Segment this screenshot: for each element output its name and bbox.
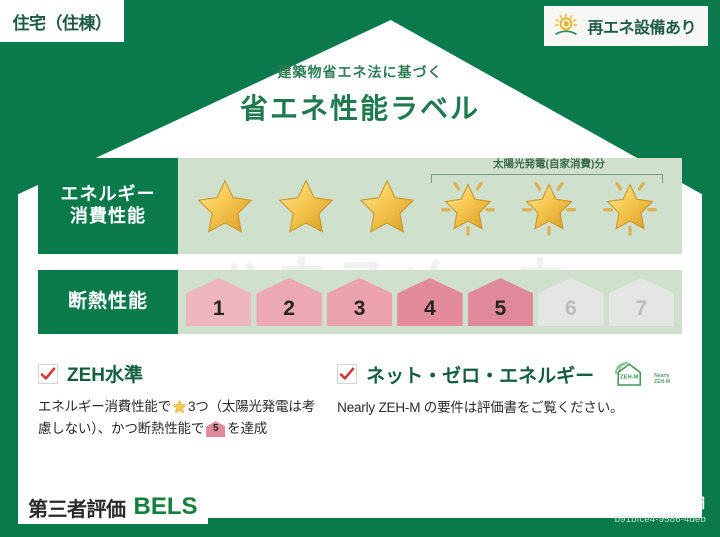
criterion-nzeb: ネット・ゼロ・エネルギー ZEH-M Nearly ZEH-M Nearly Z… (337, 360, 682, 441)
nzeb-description: Nearly ZEH-M の要件は評価書をご覧ください。 (337, 397, 670, 419)
inline-house-value: 5 (206, 421, 225, 438)
footer-bels: 第三者評価 BELS Dear Life (18, 490, 272, 524)
renewable-badge-label: 再エネ設備あり (587, 14, 696, 38)
star-3 (346, 158, 427, 254)
bels-badge: 第三者評価 BELS (18, 490, 208, 524)
footer-evaluation: 評価日 2025年1月31日 b91bfce4-9586-4deb (568, 493, 706, 525)
zehm-side-line1: Nearly (654, 373, 669, 379)
insulation-level-6: 6 (538, 278, 603, 326)
renewable-energy-badge: 再エネ設備あり (544, 6, 708, 46)
insulation-level-1: 1 (186, 278, 251, 326)
insulation-level-value: 2 (283, 297, 295, 326)
criterion-zeh: ZEH水準 エネルギー消費性能で3つ（太陽光発電は考慮しない）、かつ断熱性能で5… (38, 360, 337, 441)
zehm-side-line2: ZEH-M (654, 379, 670, 385)
insulation-level-3: 3 (327, 278, 392, 326)
energy-performance-row: エネルギー 消費性能 太陽光発電(自家消費)分 (38, 158, 682, 254)
star-6-solar (589, 158, 670, 254)
svg-text:ZEH-M: ZEH-M (620, 374, 639, 380)
solar-annotation-label: 太陽光発電(自家消費)分 (421, 156, 677, 171)
zeh-m-logo-side: Nearly ZEH-M (654, 373, 670, 389)
insulation-level-scale: 1 2 3 4 5 (178, 270, 682, 334)
insulation-level-value: 1 (213, 297, 225, 326)
zeh-checkbox[interactable] (38, 364, 58, 384)
nzeb-checkbox[interactable] (337, 364, 357, 384)
zeh-m-logo: ZEH-M Nearly ZEH-M (608, 360, 670, 388)
zeh-desc-part2: （太陽光発電 (209, 399, 289, 414)
brand-name: Dear Life (217, 500, 273, 515)
criteria-section: ZEH水準 エネルギー消費性能で3つ（太陽光発電は考慮しない）、かつ断熱性能で5… (38, 360, 682, 441)
title-block: 建築物省エネ法に基づく 省エネ性能ラベル (0, 62, 720, 127)
insulation-level-2: 2 (256, 278, 321, 326)
star-4-solar (427, 158, 508, 254)
insulation-level-value: 5 (495, 297, 507, 326)
bels-en-label: BELS (134, 493, 198, 521)
energy-performance-body: 太陽光発電(自家消費)分 (178, 158, 682, 254)
star-rating (178, 158, 682, 254)
insulation-level-value: 4 (424, 297, 436, 326)
star-1 (184, 158, 265, 254)
insulation-level-4: 4 (397, 278, 462, 326)
energy-label-line1: エネルギー (61, 184, 156, 206)
criterion-nzeb-header: ネット・ゼロ・エネルギー ZEH-M Nearly ZEH-M (337, 360, 670, 388)
insulation-label-text: 断熱性能 (68, 290, 148, 313)
insulation-level-5: 5 (468, 278, 533, 326)
zeh-desc-part4: を達成 (227, 421, 267, 436)
energy-performance-label: エネルギー 消費性能 (38, 158, 178, 254)
building-type-label: 住宅（住棟） (13, 9, 112, 34)
star-2 (265, 158, 346, 254)
zeh-description: エネルギー消費性能で3つ（太陽光発電は考慮しない）、かつ断熱性能で5を達成 (38, 396, 325, 441)
building-type-tag: 住宅（住棟） (0, 0, 124, 42)
insulation-performance-label: 断熱性能 (38, 270, 178, 334)
bels-jp-label: 第三者評価 (28, 493, 126, 522)
evaluation-id: b91bfce4-9586-4deb (568, 514, 706, 525)
nzeb-title: ネット・ゼロ・エネルギー (366, 361, 594, 388)
evaluation-date: 評価日 2025年1月31日 (568, 493, 706, 513)
house-icon-inline: 5 (206, 421, 225, 437)
zeh-title: ZEH水準 (67, 360, 143, 387)
zeh-desc-part1: エネルギー消費性能で (38, 399, 171, 414)
energy-label-line2: 消費性能 (70, 206, 146, 228)
solar-bracket (431, 174, 663, 183)
criterion-zeh-header: ZEH水準 (38, 360, 325, 387)
star-5-solar (508, 158, 589, 254)
insulation-level-value: 6 (565, 297, 577, 326)
insulation-performance-row: 断熱性能 1 2 3 4 (38, 270, 682, 334)
star-icon (172, 399, 187, 414)
page-title: 省エネ性能ラベル (0, 87, 720, 127)
insulation-level-value: 7 (635, 297, 647, 326)
insulation-performance-body: 1 2 3 4 5 (178, 270, 682, 334)
insulation-level-value: 3 (354, 297, 366, 326)
zeh-desc-starcount: 3つ (188, 399, 209, 414)
bels-energy-label: 住宅（住棟） 再エネ設備あり 建築物省エネ法に基づく 省 (0, 0, 720, 537)
sun-icon (552, 12, 580, 40)
insulation-level-7: 7 (609, 278, 674, 326)
label-subtitle: 建築物省エネ法に基づく (0, 62, 720, 82)
